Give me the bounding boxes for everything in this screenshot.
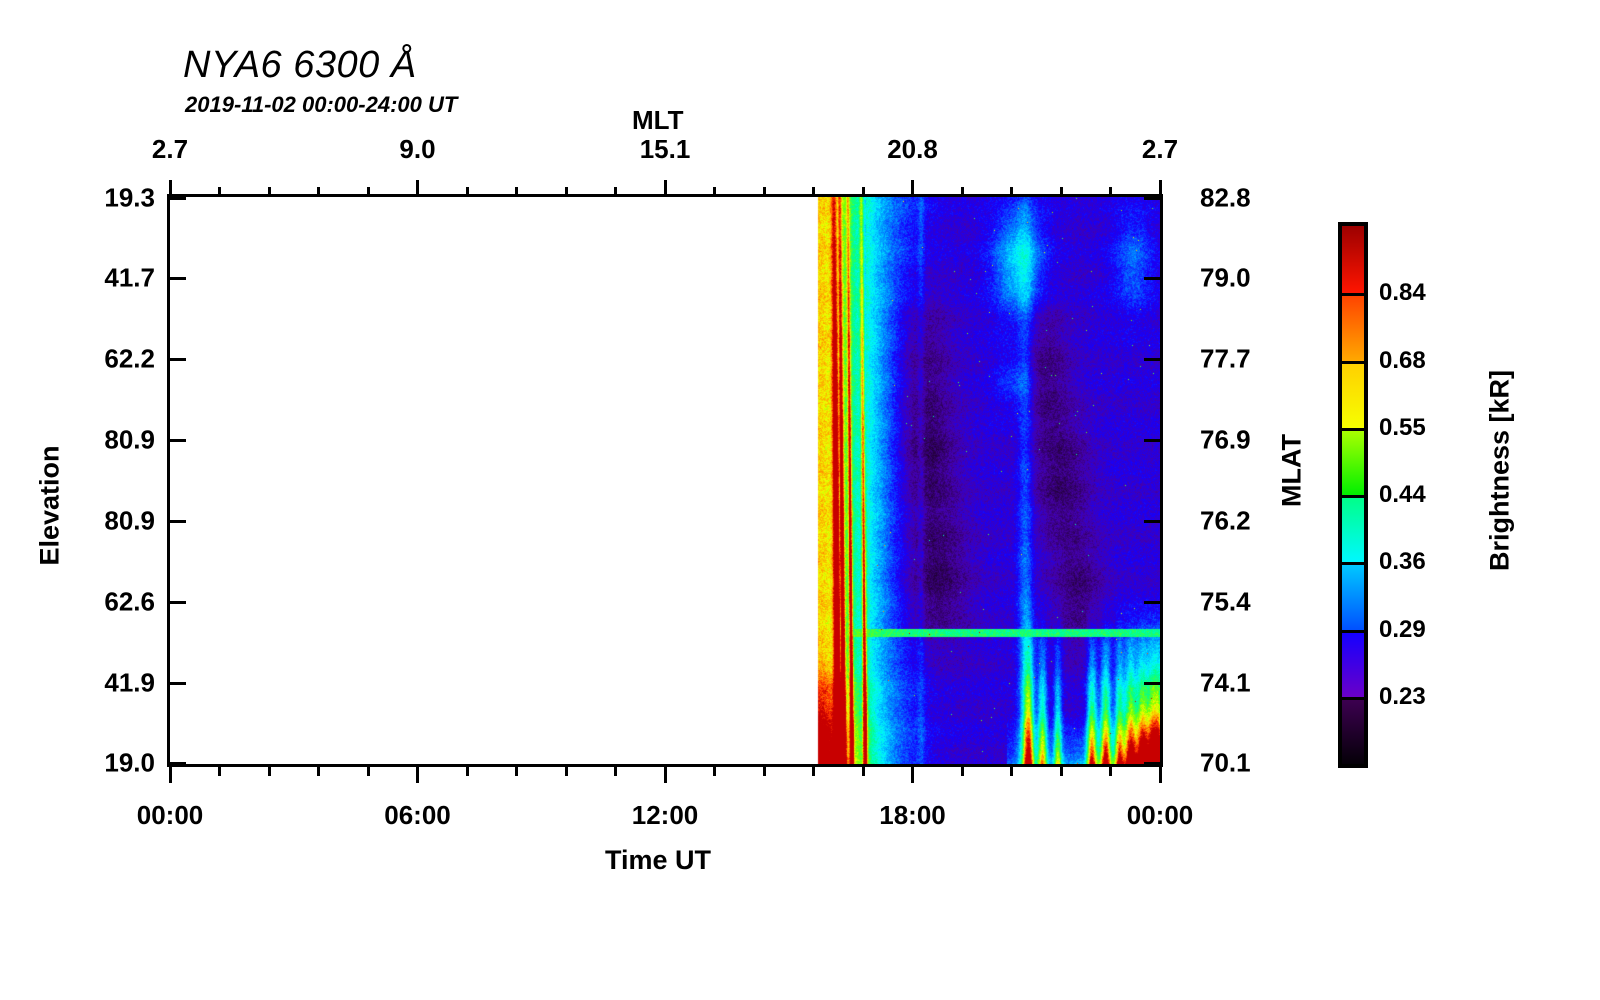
x-major-tick [664, 766, 667, 783]
elevation-tick [169, 762, 186, 765]
x-minor-tick [367, 766, 370, 776]
x-minor-tick [812, 766, 815, 776]
time-axis-label: Time UT [605, 845, 711, 876]
elevation-tick [169, 601, 186, 604]
x-minor-tick [1109, 766, 1112, 776]
mlt-minor-tick [515, 187, 518, 197]
mlat-tick-label: 76.2 [1200, 506, 1251, 537]
mlt-tick-label: 15.1 [640, 134, 691, 165]
elevation-tick-label: 62.2 [104, 344, 155, 375]
mlt-minor-tick [961, 187, 964, 197]
elevation-tick-label: 19.0 [104, 748, 155, 779]
brightness-colorbar [1338, 222, 1368, 768]
mlat-tick-label: 74.1 [1200, 668, 1251, 699]
x-minor-tick [268, 766, 271, 776]
colorbar-segment [1342, 630, 1364, 697]
mlt-tick-label: 9.0 [399, 134, 435, 165]
elevation-tick [169, 197, 186, 200]
x-major-tick [169, 766, 172, 783]
elevation-tick [169, 520, 186, 523]
x-minor-tick [1060, 766, 1063, 776]
keogram-figure: NYA6 6300 Å 2019-11-02 00:00-24:00 UT ML… [0, 0, 1600, 1000]
colorbar-tick-label: 0.36 [1379, 548, 1426, 576]
mlt-minor-tick [268, 187, 271, 197]
mlt-minor-tick [565, 187, 568, 197]
mlt-major-tick [169, 180, 172, 197]
mlat-tick [1144, 601, 1161, 604]
x-minor-tick [862, 766, 865, 776]
figure-title: NYA6 6300 Å [183, 44, 417, 87]
x-minor-tick [515, 766, 518, 776]
x-minor-tick [763, 766, 766, 776]
mlat-tick [1144, 762, 1161, 765]
mlat-tick-label: 79.0 [1200, 263, 1251, 294]
colorbar-segment [1342, 428, 1364, 495]
elevation-tick [169, 358, 186, 361]
elevation-tick-label: 80.9 [104, 425, 155, 456]
figure-subtitle: 2019-11-02 00:00-24:00 UT [185, 92, 457, 118]
x-major-tick [911, 766, 914, 783]
mlt-minor-tick [614, 187, 617, 197]
x-minor-tick [961, 766, 964, 776]
elevation-tick [169, 277, 186, 280]
x-minor-tick [614, 766, 617, 776]
mlt-axis-label: MLT [632, 105, 684, 136]
mlat-tick [1144, 439, 1161, 442]
x-major-tick [1159, 766, 1162, 783]
mlt-minor-tick [367, 187, 370, 197]
elevation-tick [169, 682, 186, 685]
time-tick-label: 00:00 [1127, 800, 1194, 831]
mlt-major-tick [911, 180, 914, 197]
time-tick-label: 12:00 [632, 800, 699, 831]
elevation-tick-label: 41.9 [104, 668, 155, 699]
mlat-tick-label: 75.4 [1200, 587, 1251, 618]
mlt-major-tick [1159, 180, 1162, 197]
mlt-tick-label: 20.8 [887, 134, 938, 165]
colorbar-segment [1342, 226, 1364, 293]
keogram-plot-area [167, 194, 1163, 767]
mlat-tick [1144, 682, 1161, 685]
colorbar-tick-label: 0.29 [1379, 616, 1426, 644]
x-minor-tick [1010, 766, 1013, 776]
mlat-tick [1144, 197, 1161, 200]
x-minor-tick [218, 766, 221, 776]
colorbar-segment [1342, 697, 1364, 764]
mlt-minor-tick [763, 187, 766, 197]
mlat-tick [1144, 358, 1161, 361]
mlat-tick [1144, 520, 1161, 523]
colorbar-tick-label: 0.23 [1379, 683, 1426, 711]
colorbar-tick-label: 0.68 [1379, 347, 1426, 375]
mlt-minor-tick [862, 187, 865, 197]
mlt-minor-tick [713, 187, 716, 197]
mlat-tick-label: 70.1 [1200, 748, 1251, 779]
time-tick-label: 06:00 [384, 800, 451, 831]
elevation-tick-label: 41.7 [104, 263, 155, 294]
colorbar-segment [1342, 293, 1364, 360]
elevation-axis-label: Elevation [35, 426, 66, 586]
mlt-minor-tick [1060, 187, 1063, 197]
colorbar-segment [1342, 361, 1364, 428]
mlat-tick-label: 76.9 [1200, 425, 1251, 456]
x-major-tick [416, 766, 419, 783]
mlt-major-tick [664, 180, 667, 197]
colorbar-axis-label: Brightness [kR] [1485, 341, 1516, 601]
mlat-tick [1144, 277, 1161, 280]
mlt-tick-label: 2.7 [1142, 134, 1178, 165]
x-minor-tick [565, 766, 568, 776]
colorbar-tick-label: 0.84 [1379, 279, 1426, 307]
colorbar-segment [1342, 495, 1364, 562]
x-minor-tick [713, 766, 716, 776]
elevation-tick-label: 80.9 [104, 506, 155, 537]
elevation-tick [169, 439, 186, 442]
mlat-tick-label: 77.7 [1200, 344, 1251, 375]
mlt-minor-tick [812, 187, 815, 197]
mlat-axis-label: MLAT [1277, 391, 1308, 551]
mlt-major-tick [416, 180, 419, 197]
elevation-tick-label: 19.3 [104, 183, 155, 214]
mlat-tick-label: 82.8 [1200, 183, 1251, 214]
colorbar-segment [1342, 562, 1364, 629]
time-tick-label: 18:00 [879, 800, 946, 831]
mlt-minor-tick [1010, 187, 1013, 197]
keogram-image [170, 197, 1160, 764]
colorbar-tick-label: 0.44 [1379, 481, 1426, 509]
colorbar-tick-label: 0.55 [1379, 414, 1426, 442]
elevation-tick-label: 62.6 [104, 587, 155, 618]
mlt-minor-tick [317, 187, 320, 197]
x-minor-tick [466, 766, 469, 776]
mlt-minor-tick [466, 187, 469, 197]
mlt-minor-tick [218, 187, 221, 197]
mlt-tick-label: 2.7 [152, 134, 188, 165]
time-tick-label: 00:00 [137, 800, 204, 831]
x-minor-tick [317, 766, 320, 776]
mlt-minor-tick [1109, 187, 1112, 197]
